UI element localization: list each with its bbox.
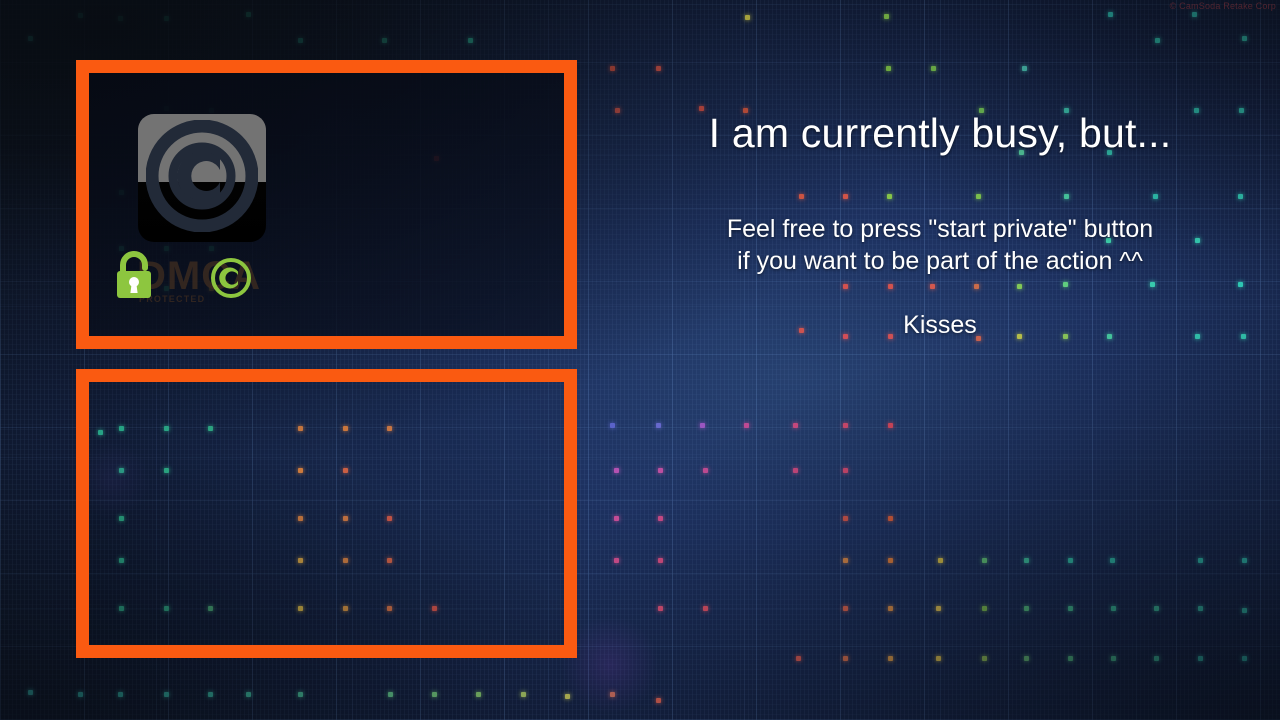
page-title: I am currently busy, but...: [600, 108, 1280, 158]
secondary-camera-feed[interactable]: [76, 369, 577, 658]
corner-watermark: © CamSoda Retake Corp: [1170, 1, 1276, 11]
busy-message-signoff: Kisses: [600, 309, 1280, 341]
primary-camera-feed[interactable]: DMCA PROTECTED: [76, 60, 577, 349]
busy-screen-stage: DMCA PROTECTED I am currently busy,: [0, 0, 1280, 720]
busy-message-body: Feel free to press "start private" butto…: [600, 213, 1280, 277]
busy-message-line-1: Feel free to press "start private" butto…: [600, 213, 1280, 245]
busy-message: I am currently busy, but... Feel free to…: [600, 108, 1280, 341]
busy-message-line-2: if you want to be part of the action ^^: [600, 245, 1280, 277]
dmca-badge: DMCA PROTECTED: [115, 248, 293, 308]
padlock-icon: [115, 251, 153, 304]
copyright-circle-icon: [209, 256, 253, 305]
copyright-icon: [138, 114, 266, 242]
